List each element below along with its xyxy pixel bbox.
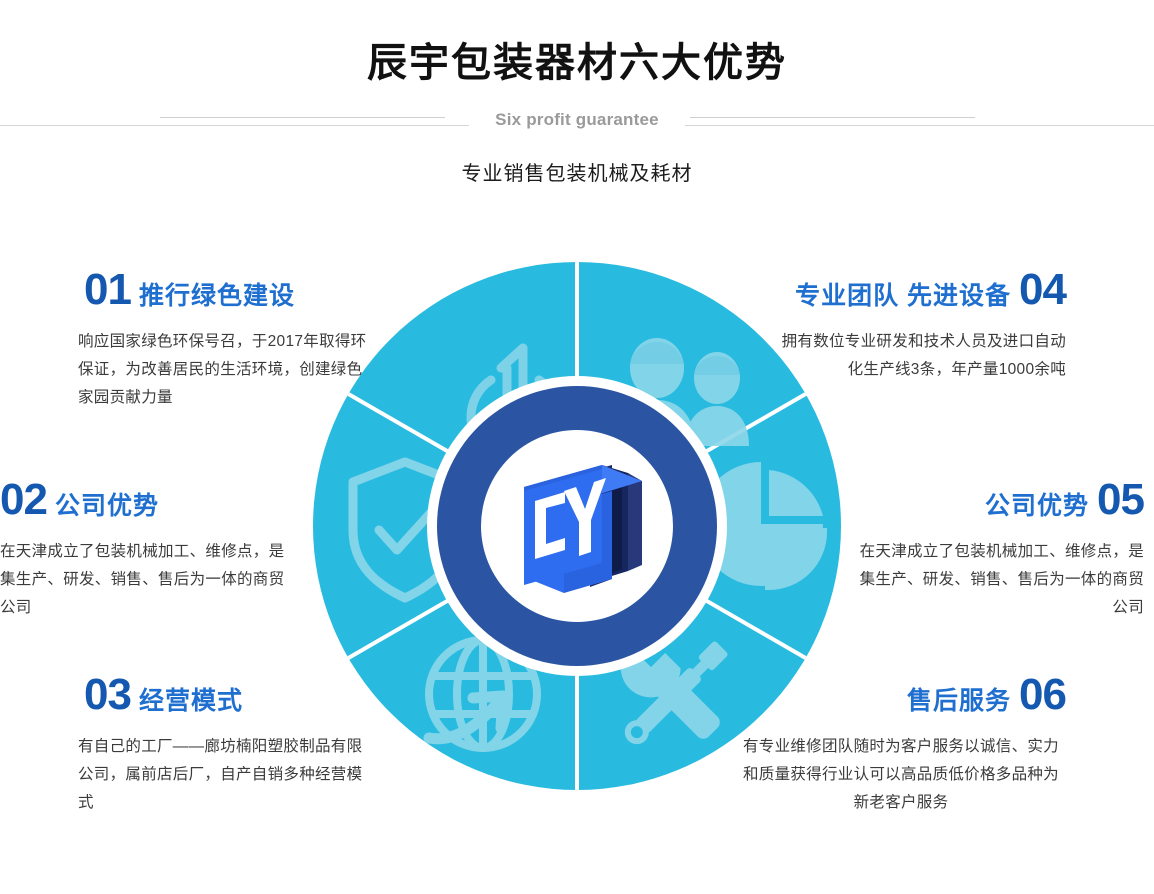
header-divider: Six profit guarantee: [0, 104, 1154, 144]
page-subtitle-en-text: Six profit guarantee: [469, 110, 685, 129]
page-subtitle-cn: 专业销售包装机械及耗材: [0, 157, 1154, 186]
feature-block-01: 01 推行绿色建设 响应国家绿色环保号召，于2017年取得环保证，为改善居民的生…: [78, 268, 378, 412]
feature-body-03: 有自己的工厂——廊坊楠阳塑胶制品有限公司，属前店后厂，自产自销多种经营模式: [78, 733, 378, 817]
feature-body-04: 拥有数位专业研发和技术人员及进口自动化生产线3条，年产量1000余吨: [776, 328, 1066, 384]
feature-block-02: 02 公司优势 在天津成立了包装机械加工、维修点，是集生产、研发、销售、售后为一…: [0, 478, 290, 622]
feature-heading-01: 01 推行绿色建设: [78, 268, 378, 312]
feature-title-01: 推行绿色建设: [139, 284, 295, 309]
feature-number-05: 05: [1097, 478, 1144, 522]
feature-body-06: 有专业维修团队随时为客户服务以诚信、实力和质量获得行业认可以高品质低价格多品种为…: [736, 733, 1066, 817]
feature-heading-05: 公司优势 05: [844, 478, 1144, 522]
feature-block-05: 公司优势 05 在天津成立了包装机械加工、维修点，是集生产、研发、销售、售后为一…: [844, 478, 1144, 622]
infographic-page: 辰宇包装器材六大优势 Six profit guarantee 专业销售包装机械…: [0, 0, 1154, 894]
feature-body-01: 响应国家绿色环保号召，于2017年取得环保证，为改善居民的生活环境，创建绿色家园…: [78, 328, 378, 412]
feature-title-03: 经营模式: [139, 689, 243, 714]
cy-box-logo-icon: [502, 451, 652, 601]
feature-number-03: 03: [84, 673, 131, 717]
feature-number-01: 01: [84, 268, 131, 312]
page-subtitle-en: Six profit guarantee: [0, 110, 1154, 130]
feature-block-06: 售后服务 06 有专业维修团队随时为客户服务以诚信、实力和质量获得行业认可以高品…: [736, 673, 1066, 817]
feature-heading-03: 03 经营模式: [78, 673, 378, 717]
feature-body-05: 在天津成立了包装机械加工、维修点，是集生产、研发、销售、售后为一体的商贸公司: [844, 538, 1144, 622]
feature-title-02: 公司优势: [55, 494, 159, 519]
feature-heading-06: 售后服务 06: [736, 673, 1066, 717]
feature-number-04: 04: [1019, 268, 1066, 312]
feature-number-02: 02: [0, 478, 47, 522]
feature-heading-04: 专业团队 先进设备 04: [776, 268, 1066, 312]
feature-heading-02: 02 公司优势: [0, 478, 290, 522]
feature-title-06: 售后服务: [907, 689, 1011, 714]
feature-block-03: 03 经营模式 有自己的工厂——廊坊楠阳塑胶制品有限公司，属前店后厂，自产自销多…: [78, 673, 378, 817]
feature-title-04: 专业团队 先进设备: [795, 284, 1011, 309]
feature-number-06: 06: [1019, 673, 1066, 717]
feature-block-04: 专业团队 先进设备 04 拥有数位专业研发和技术人员及进口自动化生产线3条，年产…: [776, 268, 1066, 384]
feature-title-05: 公司优势: [985, 494, 1089, 519]
avatar: [502, 451, 652, 601]
feature-body-02: 在天津成立了包装机械加工、维修点，是集生产、研发、销售、售后为一体的商贸公司: [0, 538, 290, 622]
page-title: 辰宇包装器材六大优势: [0, 38, 1154, 88]
